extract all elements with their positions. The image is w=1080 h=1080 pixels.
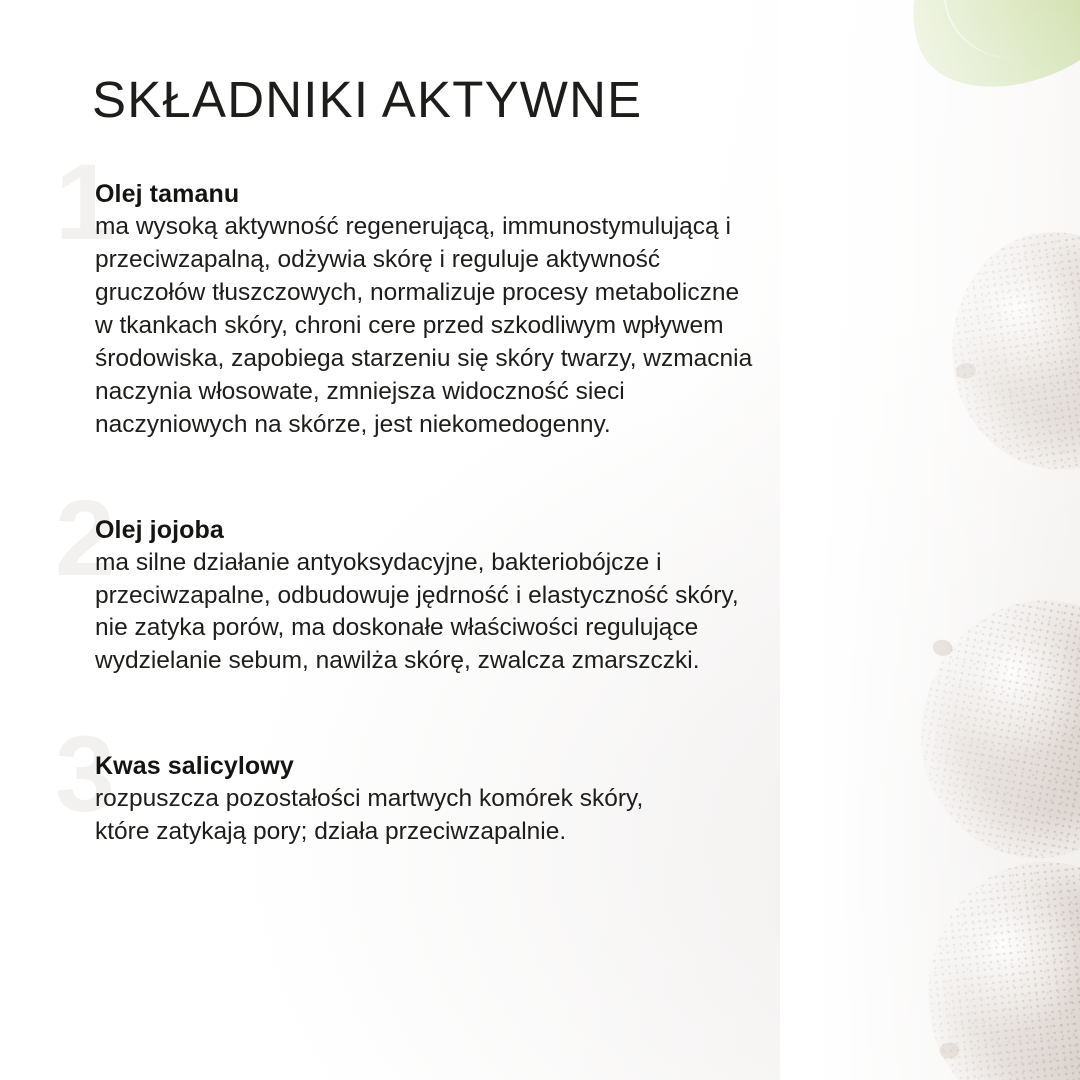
ingredient-description: rozpuszcza pozostałości martwych komórek… — [95, 783, 945, 849]
list-item: 1 Olej tamanu ma wysoką aktywność regene… — [0, 180, 960, 442]
ingredient-name: Kwas salicylowy — [95, 752, 960, 781]
ingredient-description: ma silne działanie antyoksydacyjne, bakt… — [95, 547, 945, 679]
poster-canvas: SKŁADNIKI AKTYWNE 1 Olej tamanu ma wysok… — [0, 0, 1080, 1080]
tamanu-nut-icon — [915, 850, 1080, 1080]
leaf-icon — [880, 0, 1080, 117]
page-title: SKŁADNIKI AKTYWNE — [92, 70, 642, 129]
ingredient-name: Olej jojoba — [95, 516, 960, 545]
ingredient-name: Olej tamanu — [95, 180, 960, 209]
ingredient-description: ma wysoką aktywność regenerującą, immuno… — [95, 211, 945, 442]
leaf-vein-icon — [929, 0, 1080, 73]
list-item: 3 Kwas salicylowy rozpuszcza pozostałośc… — [0, 752, 960, 849]
list-item: 2 Olej jojoba ma silne działanie antyoks… — [0, 516, 960, 679]
nut-stem-icon — [939, 1042, 961, 1060]
ingredient-list: 1 Olej tamanu ma wysoką aktywność regene… — [0, 180, 960, 849]
